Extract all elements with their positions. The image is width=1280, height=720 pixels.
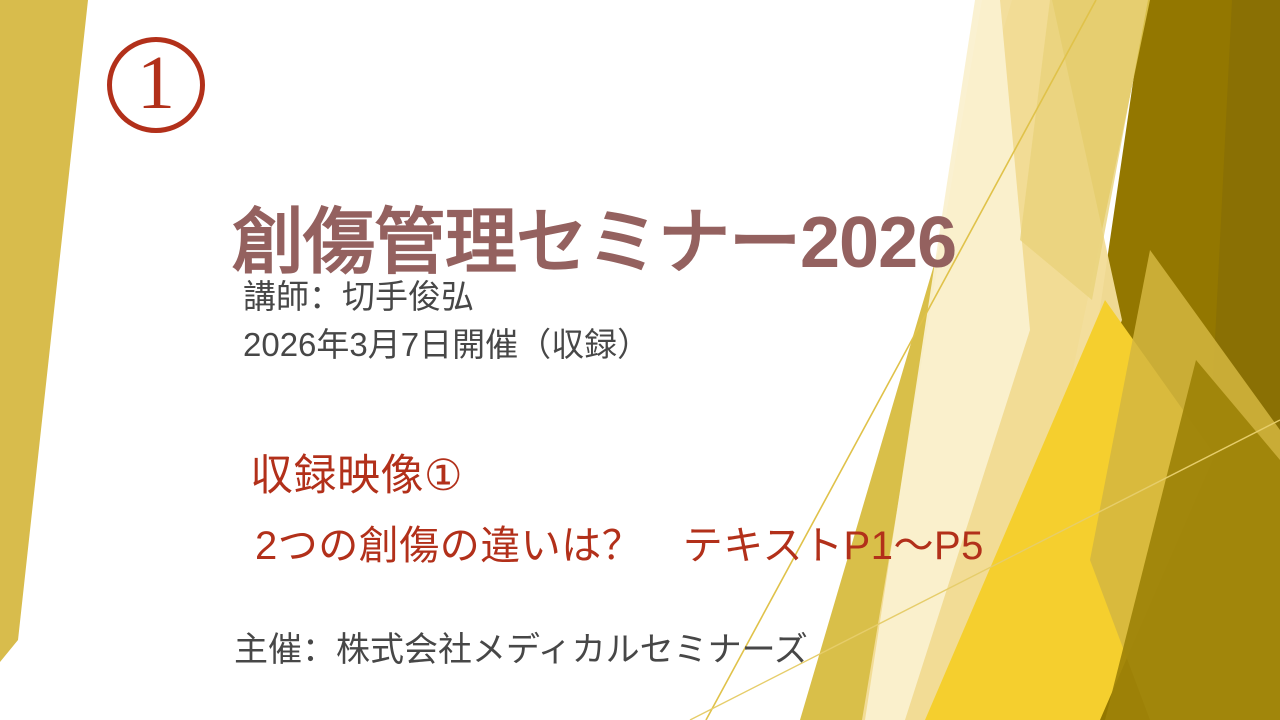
lecturer-line: 講師：切手俊弘	[243, 273, 650, 321]
slide-number-badge: 1	[107, 37, 205, 133]
recorded-video-topic: 2つの創傷の違いは？ テキストP1〜P5	[255, 523, 984, 569]
slide-subtitle: 講師：切手俊弘 2026年3月7日開催（収録）	[243, 273, 650, 369]
organizer-line: 主催：株式会社メディカルセミナーズ	[234, 630, 808, 671]
mid-gold-band	[800, 0, 1150, 720]
right-dark-olive-band	[1040, 0, 1280, 720]
pale-gold-band	[862, 0, 1122, 720]
recorded-video-section: 収録映像① 2つの創傷の違いは？ テキストP1〜P5	[250, 452, 984, 569]
light-gold-facet-upper	[1020, 0, 1148, 300]
mid-gold-overlay	[1090, 250, 1280, 720]
slide-number-badge-value: 1	[137, 45, 175, 121]
presentation-slide: 1 創傷管理セミナー2026 講師：切手俊弘 2026年3月7日開催（収録） 収…	[0, 0, 1280, 720]
gold-hairline-diagonal	[706, 0, 1096, 720]
slide-title: 創傷管理セミナー2026	[232, 205, 956, 281]
right-deep-olive-sliver	[1196, 0, 1280, 720]
left-gold-wedge	[0, 0, 88, 662]
olive-overlay-right	[1105, 360, 1280, 720]
cream-highlight-streak	[865, 0, 1030, 720]
date-line: 2026年3月7日開催（収録）	[243, 321, 650, 369]
recorded-video-label: 収録映像①	[250, 452, 984, 501]
